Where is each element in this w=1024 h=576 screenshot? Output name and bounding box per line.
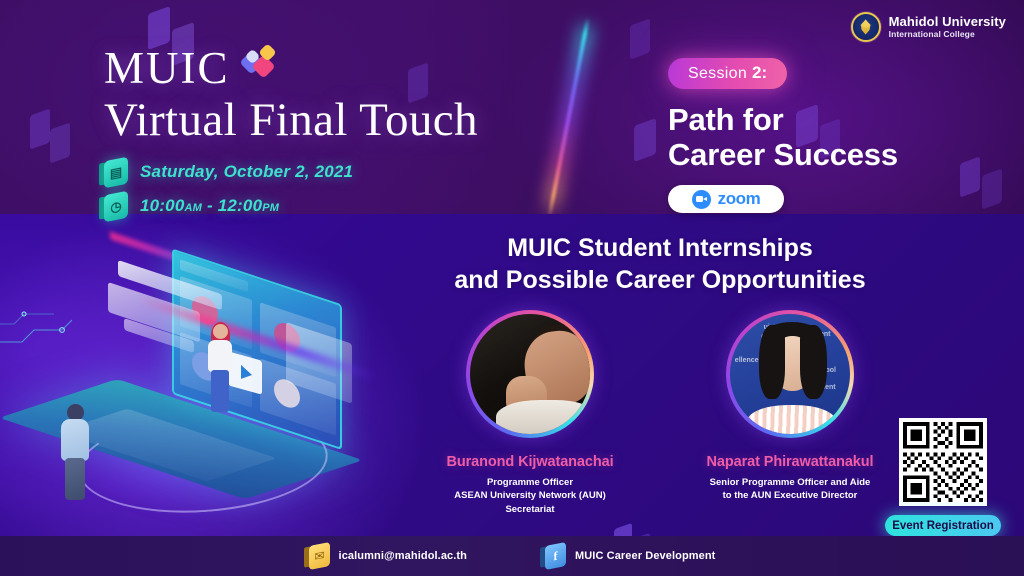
zoom-platform-badge[interactable]: zoom [668,185,784,213]
time-end-suffix: PM [262,202,279,214]
registration-block: Event Registration Until September 25, 2… [884,418,1002,554]
headline-line-2: and Possible Career Opportunities [420,264,900,296]
time-start-suffix: AM [184,202,202,214]
time-end: 12:00 [218,196,262,215]
footer-facebook-label: MUIC Career Development [575,550,715,562]
session-title-line2: Career Success [668,138,898,173]
speaker-photo-buranond [470,314,590,434]
event-time-row: ◷ 10:00AM - 12:00PM [104,193,478,220]
speakers-section: Buranond Kijwatanachai Programme Officer… [430,310,890,516]
circuit-lines-icon [0,284,120,364]
qr-code-icon[interactable] [899,418,987,506]
event-poster: Mahidol University International College… [0,0,1024,576]
speaker-card: Buranond Kijwatanachai Programme Officer… [430,310,630,516]
event-title-block: MUIC Virtual Final Touch ▤ Saturday, Oct… [104,46,478,220]
footer-email-label: icalumni@mahidol.ac.th [339,550,467,562]
session-badge-word: Session [688,65,747,83]
muic-diamond-mark-icon [243,46,283,80]
decor-diamond [982,168,1002,209]
speaker-photo-naparat: ellence xcellent k School agement ui ent [730,314,850,434]
main-headline: MUIC Student Internships and Possible Ca… [420,232,900,296]
session-title: Path for Career Success [668,103,898,172]
neon-divider-streak [547,18,590,214]
page-title: Virtual Final Touch [104,95,478,147]
qr-code-svg [903,422,983,502]
footer-facebook-item[interactable]: f MUIC Career Development [545,544,715,568]
event-time: 10:00AM - 12:00PM [140,196,279,216]
email-icon: ✉ [309,544,330,568]
illustration-presenter [206,324,234,412]
speaker-role-line2: to the AUN Executive Director [690,489,890,502]
speaker-name: Naparat Phirawattanakul [690,454,890,470]
facebook-icon: f [545,544,566,568]
session-title-line1: Path for [668,103,898,138]
speaker-role-line1: Senior Programme Officer and Aide [690,476,890,489]
decor-diamond [50,122,70,163]
zoom-label: zoom [718,189,761,209]
calendar-icon: ▤ [104,159,128,186]
headline-line-1: MUIC Student Internships [420,232,900,264]
time-separator: - [207,196,213,215]
time-start: 10:00 [140,196,184,215]
zoom-video-icon [692,190,711,209]
video-conference-illustration [0,214,420,544]
speaker-role: Programme Officer ASEAN University Netwo… [430,476,630,516]
event-date: Saturday, October 2, 2021 [140,162,353,182]
decor-diamond [630,18,650,59]
footer: ✉ icalumni@mahidol.ac.th f MUIC Career D… [0,536,1024,576]
event-registration-button[interactable]: Event Registration [885,515,1001,536]
mahidol-seal-icon [851,12,881,42]
session-badge-number: 2: [752,63,767,83]
speaker-role-line2: ASEAN University Network (AUN) Secretari… [430,489,630,516]
clock-icon: ◷ [104,193,128,220]
speaker-role: Senior Programme Officer and Aide to the… [690,476,890,503]
speaker-role-line1: Programme Officer [430,476,630,489]
status-badge: Session 2: [668,58,787,89]
avatar: ellence xcellent k School agement ui ent [726,310,854,438]
logo-title: Mahidol University [889,15,1006,29]
footer-email-item[interactable]: ✉ icalumni@mahidol.ac.th [309,544,467,568]
session-block: Session 2: Path for Career Success zoom [668,58,898,213]
avatar [466,310,594,438]
decor-diamond [634,118,656,162]
decor-diamond [30,108,50,149]
org-name: MUIC [104,46,478,91]
speaker-card: ellence xcellent k School agement ui ent… [690,310,890,516]
mahidol-university-logo: Mahidol University International College [851,12,1006,42]
event-date-row: ▤ Saturday, October 2, 2021 [104,159,478,186]
logo-subtitle: International College [889,29,1006,40]
speaker-name: Buranond Kijwatanachai [430,454,630,470]
illustration-viewer [58,404,92,502]
decor-diamond [960,156,980,197]
